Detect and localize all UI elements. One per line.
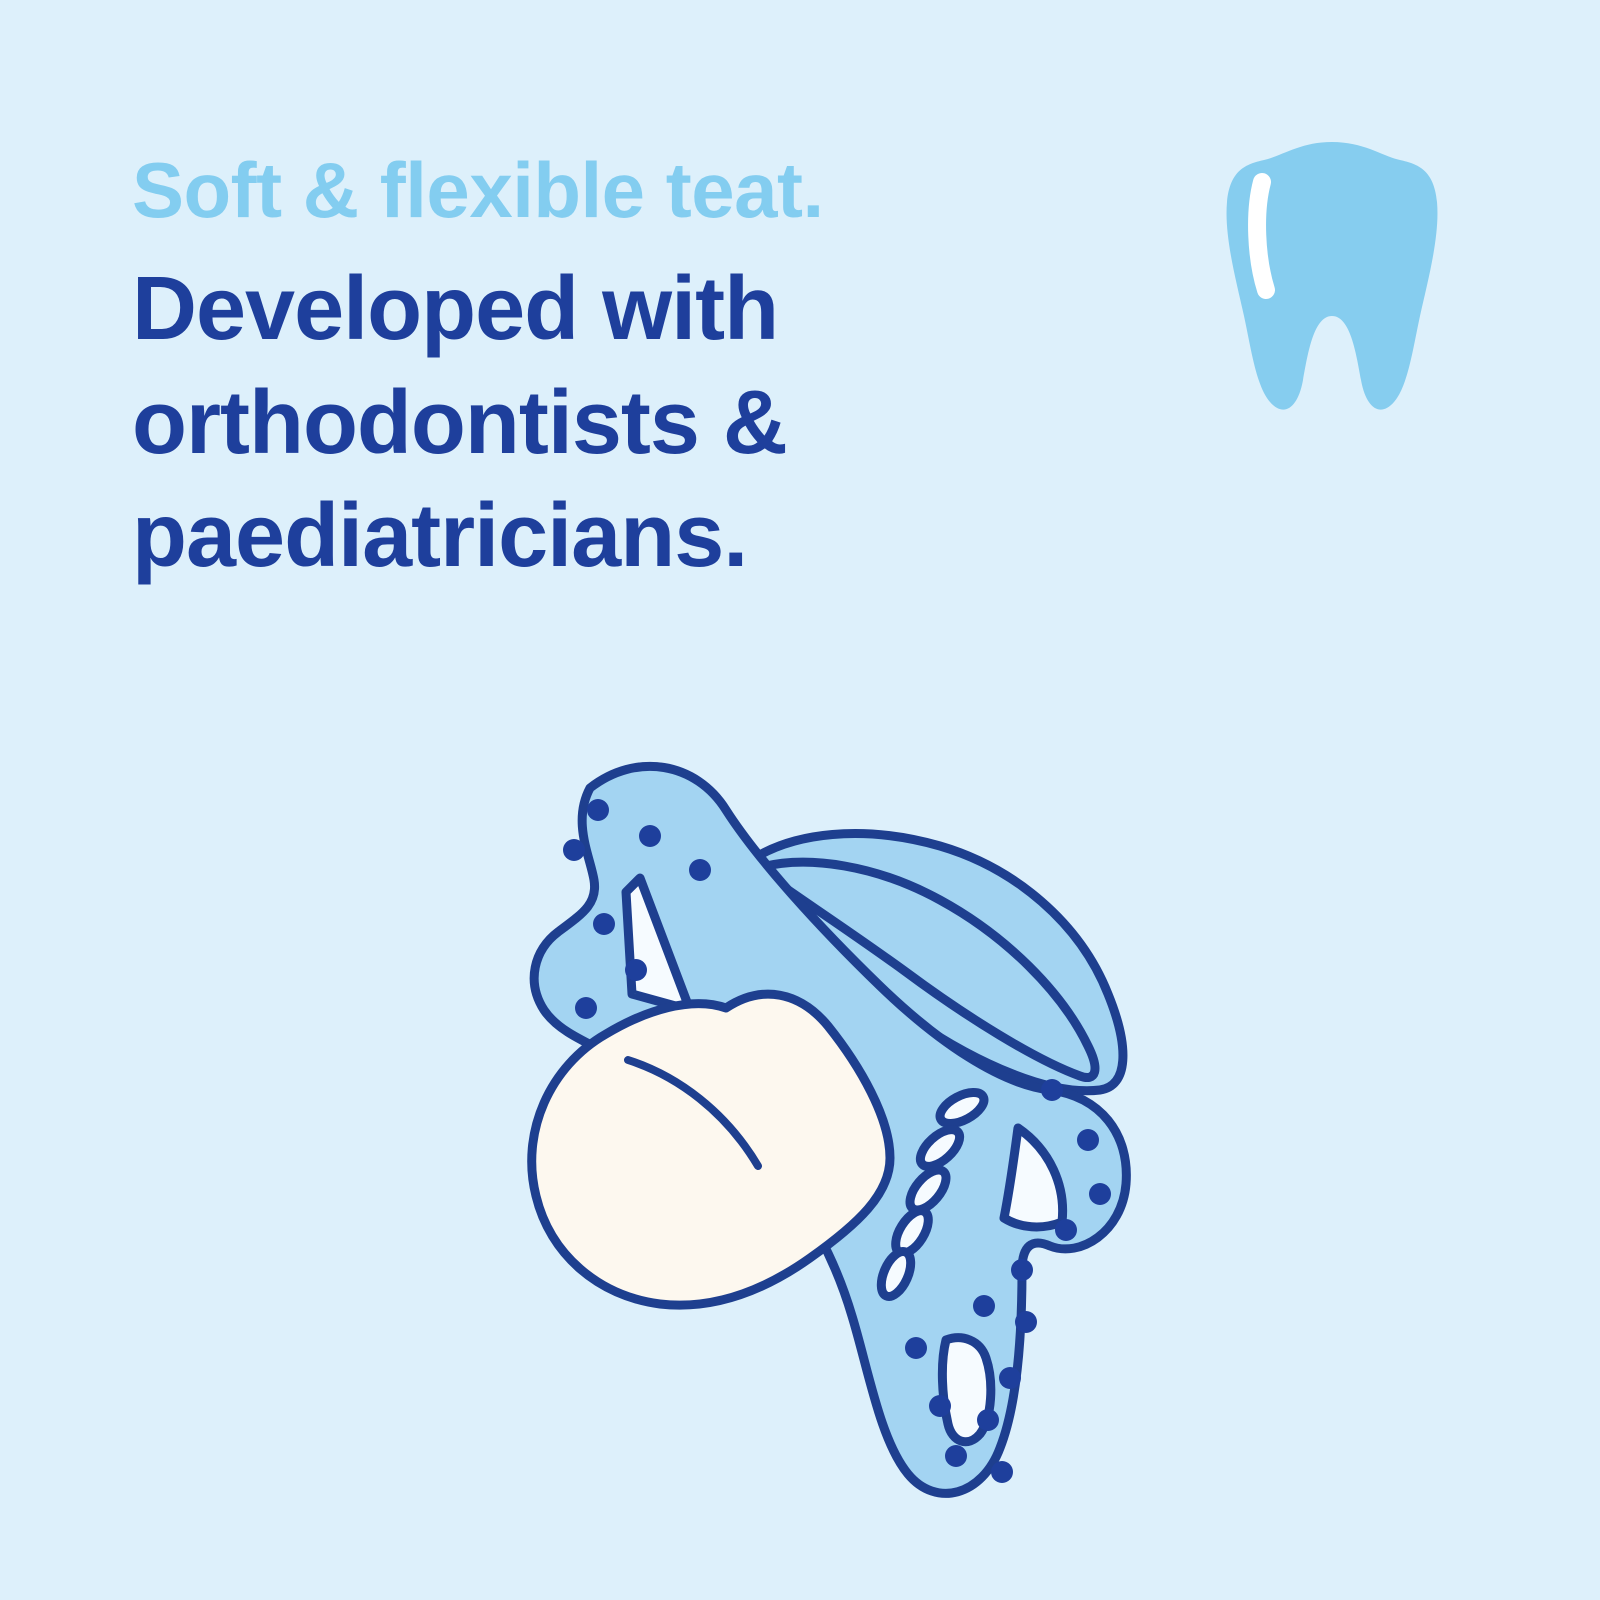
dot bbox=[639, 825, 661, 847]
dot bbox=[1077, 1129, 1099, 1151]
dot bbox=[991, 1461, 1013, 1483]
eyebrow-text: Soft & flexible teat. bbox=[132, 150, 1132, 231]
dot bbox=[1041, 1079, 1063, 1101]
headline-line-1: Developed with bbox=[132, 253, 1132, 366]
dot bbox=[1089, 1183, 1111, 1205]
dot bbox=[625, 959, 647, 981]
dot bbox=[563, 839, 585, 861]
dot bbox=[977, 1409, 999, 1431]
dot bbox=[689, 859, 711, 881]
dot bbox=[945, 1445, 967, 1467]
copy-block: Soft & flexible teat. Developed with ort… bbox=[132, 150, 1132, 593]
poster-canvas: Soft & flexible teat. Developed with ort… bbox=[0, 0, 1600, 1600]
dot bbox=[1015, 1311, 1037, 1333]
tooth-icon: Tooth bbox=[1222, 130, 1442, 420]
dot bbox=[575, 997, 597, 1019]
tooth-highlight bbox=[1257, 182, 1266, 290]
pacifier-illustration: Orthodontic baby pacifier with soft flex… bbox=[440, 718, 1140, 1518]
dot bbox=[973, 1295, 995, 1317]
dot bbox=[1011, 1259, 1033, 1281]
dot bbox=[587, 799, 609, 821]
dot bbox=[593, 913, 615, 935]
dot bbox=[999, 1367, 1021, 1389]
dot bbox=[905, 1337, 927, 1359]
headline-line-2: orthodontists & bbox=[132, 367, 1132, 480]
dot bbox=[1055, 1219, 1077, 1241]
headline-line-3: paediatricians. bbox=[132, 480, 1132, 593]
dot bbox=[929, 1395, 951, 1417]
page-title: Developed with orthodontists & paediatri… bbox=[132, 253, 1132, 593]
